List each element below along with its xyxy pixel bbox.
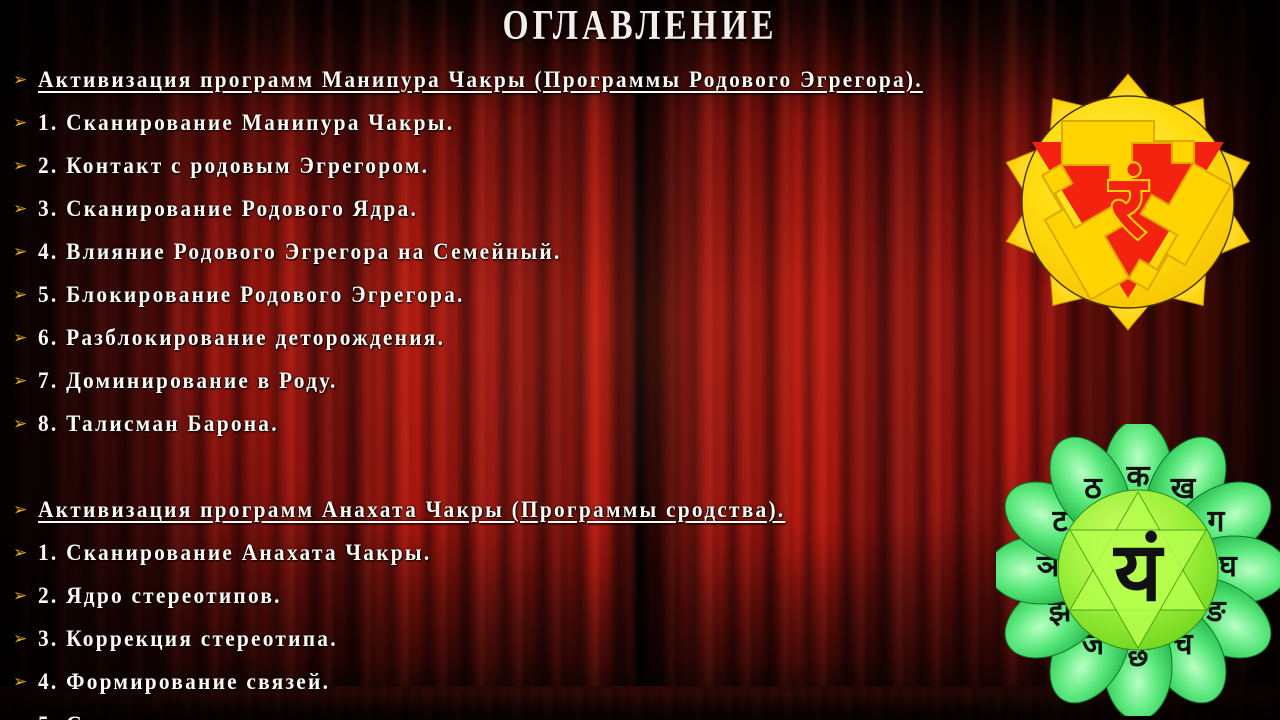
- arrow-bullet-icon: ➢: [8, 329, 38, 346]
- toc-item-label: 5. Блокирование Родового Эгрегора.: [38, 282, 903, 308]
- anahata-chakra-icon: क ख ग घ ङ: [996, 424, 1280, 716]
- toc-item-label: 4. Формирование связей.: [38, 669, 903, 695]
- manipura-bija-text: रं: [1108, 157, 1148, 257]
- toc-item-label: 1. Сканирование Манипура Чакры.: [38, 110, 903, 136]
- toc-item-label: 6. Разблокирование деторождения.: [38, 325, 903, 351]
- arrow-bullet-icon: ➢: [8, 544, 38, 561]
- toc-list-item[interactable]: ➢2. Контакт с родовым Эгрегором.: [8, 144, 968, 187]
- arrow-bullet-icon: ➢: [8, 200, 38, 217]
- arrow-bullet-icon: ➢: [8, 71, 38, 88]
- toc-list-item[interactable]: ➢6. Разблокирование деторождения.: [8, 316, 968, 359]
- toc-item-label: 3. Коррекция стереотипа.: [38, 626, 903, 652]
- arrow-bullet-icon: ➢: [8, 673, 38, 690]
- toc-heading-label: Активизация программ Анахата Чакры (Прог…: [38, 497, 903, 523]
- page-title: ОГЛАВЛЕНИЕ: [128, 2, 1152, 50]
- svg-text:घ: घ: [1218, 549, 1238, 584]
- arrow-bullet-icon: ➢: [8, 157, 38, 174]
- arrow-bullet-icon: ➢: [8, 716, 38, 720]
- toc-list-item[interactable]: ➢1. Сканирование Анахата Чакры.: [8, 531, 968, 574]
- toc-item-label: 3. Сканирование Родового Ядра.: [38, 196, 903, 222]
- toc-list-item[interactable]: ➢4. Формирование связей.: [8, 660, 968, 703]
- svg-text:क: क: [1125, 459, 1150, 494]
- toc-list-item[interactable]: ➢8. Талисман Барона.: [8, 402, 968, 445]
- manipura-chakra-icon: रं: [988, 60, 1268, 342]
- table-of-contents-list: ➢Активизация программ Манипура Чакры (Пр…: [8, 58, 968, 720]
- slide-root: ОГЛАВЛЕНИЕ ➢Активизация программ Манипур…: [0, 0, 1280, 720]
- arrow-bullet-icon: ➢: [8, 114, 38, 131]
- toc-item-label: 7. Доминирование в Роду.: [38, 368, 903, 394]
- toc-item-label: 1. Сканирование Анахата Чакры.: [38, 540, 903, 566]
- toc-list-item[interactable]: ➢3. Коррекция стереотипа.: [8, 617, 968, 660]
- anahata-bija-text: यं: [1112, 525, 1164, 620]
- toc-item-label: 2. Ядро стереотипов.: [38, 583, 903, 609]
- arrow-bullet-icon: ➢: [8, 243, 38, 260]
- toc-list-item[interactable]: ➢1. Сканирование Манипура Чакры.: [8, 101, 968, 144]
- toc-list-item[interactable]: ➢5. Система коммутации организмов.: [8, 703, 968, 720]
- arrow-bullet-icon: ➢: [8, 630, 38, 647]
- toc-list-item[interactable]: ➢2. Ядро стереотипов.: [8, 574, 968, 617]
- toc-section-heading[interactable]: ➢Активизация программ Манипура Чакры (Пр…: [8, 58, 968, 101]
- arrow-bullet-icon: ➢: [8, 587, 38, 604]
- arrow-bullet-icon: ➢: [8, 286, 38, 303]
- toc-list-item[interactable]: ➢5. Блокирование Родового Эгрегора.: [8, 273, 968, 316]
- toc-list-item[interactable]: ➢4. Влияние Родового Эгрегора на Семейны…: [8, 230, 968, 273]
- toc-heading-label: Активизация программ Манипура Чакры (Про…: [38, 67, 923, 93]
- toc-item-label: 5. Система коммутации организмов.: [38, 712, 903, 720]
- arrow-bullet-icon: ➢: [8, 501, 38, 518]
- arrow-bullet-icon: ➢: [8, 415, 38, 432]
- toc-section-heading[interactable]: ➢Активизация программ Анахата Чакры (Про…: [8, 488, 968, 531]
- toc-list-item[interactable]: ➢3. Сканирование Родового Ядра.: [8, 187, 968, 230]
- toc-item-label: 8. Талисман Барона.: [38, 411, 903, 437]
- toc-spacer: [8, 445, 968, 488]
- toc-item-label: 4. Влияние Родового Эгрегора на Семейный…: [38, 239, 903, 265]
- toc-item-label: 2. Контакт с родовым Эгрегором.: [38, 153, 903, 179]
- arrow-bullet-icon: ➢: [8, 372, 38, 389]
- toc-list-item[interactable]: ➢7. Доминирование в Роду.: [8, 359, 968, 402]
